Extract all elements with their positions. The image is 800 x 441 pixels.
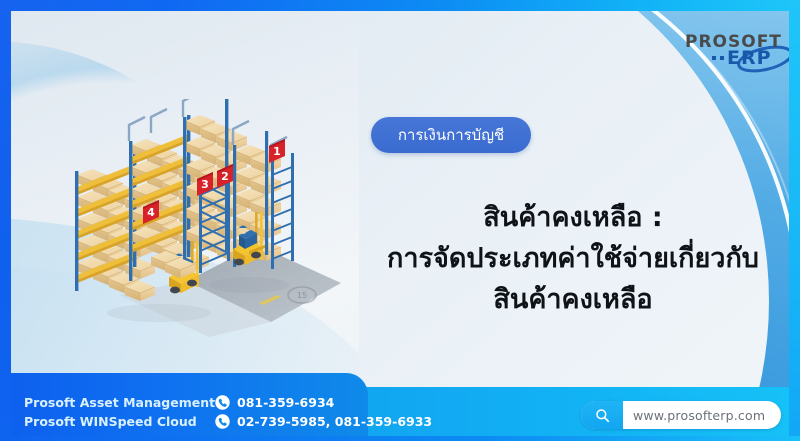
footer-contact-list: Prosoft Asset Management 081-359-6934 Pr…	[24, 393, 432, 431]
aisle-sign-1: 1	[269, 139, 285, 163]
footer-contact-row: Prosoft WINSpeed Cloud 02-739-5985, 081-…	[24, 412, 432, 431]
aisle-sign-label: 3	[201, 178, 209, 191]
logo-dot-1	[712, 56, 716, 60]
prosoft-erp-logo: PROSOFT ERP	[679, 28, 789, 76]
page-title: สินค้าคงเหลือ : การจัดประเภทค่าใช้จ่ายเก…	[363, 197, 783, 320]
category-badge-label: การเงินการบัญชี	[398, 128, 504, 143]
frame-border-right	[789, 0, 800, 441]
footer-phone-number[interactable]: 02-739-5985, 081-359-6933	[237, 412, 432, 431]
prosoft-erp-promo-banner: 15	[0, 0, 800, 441]
aisle-sign-label: 2	[221, 170, 229, 183]
footer-product-name: Prosoft Asset Management	[24, 393, 214, 412]
aisle-sign-label: 4	[147, 206, 155, 219]
floor-marking-number: 15	[297, 291, 307, 300]
footer-phone-number[interactable]: 081-359-6934	[237, 393, 334, 412]
banner-canvas: 15	[11, 11, 789, 430]
footer-contact-row: Prosoft Asset Management 081-359-6934	[24, 393, 432, 412]
frame-border-top	[0, 0, 800, 11]
aisle-sign-label: 1	[273, 145, 281, 158]
category-badge[interactable]: การเงินการบัญชี	[371, 117, 531, 153]
website-search-pill[interactable]: www.prosofterp.com	[581, 401, 781, 429]
logo-word-erp: ERP	[727, 47, 772, 69]
frame-border-left	[0, 0, 11, 441]
phone-icon	[214, 413, 231, 430]
title-line-3: สินค้าคงเหลือ	[363, 279, 783, 320]
title-line-1: สินค้าคงเหลือ :	[363, 197, 783, 238]
website-url: www.prosofterp.com	[623, 408, 781, 423]
title-line-2: การจัดประเภทค่าใช้จ่ายเกี่ยวกับ	[363, 238, 783, 279]
logo-dot-2	[720, 56, 724, 60]
frame-border-bottom	[0, 436, 800, 441]
phone-icon	[214, 394, 231, 411]
isometric-warehouse-illustration: 15	[59, 99, 359, 339]
search-icon[interactable]	[581, 401, 623, 429]
footer-product-name: Prosoft WINSpeed Cloud	[24, 412, 214, 431]
